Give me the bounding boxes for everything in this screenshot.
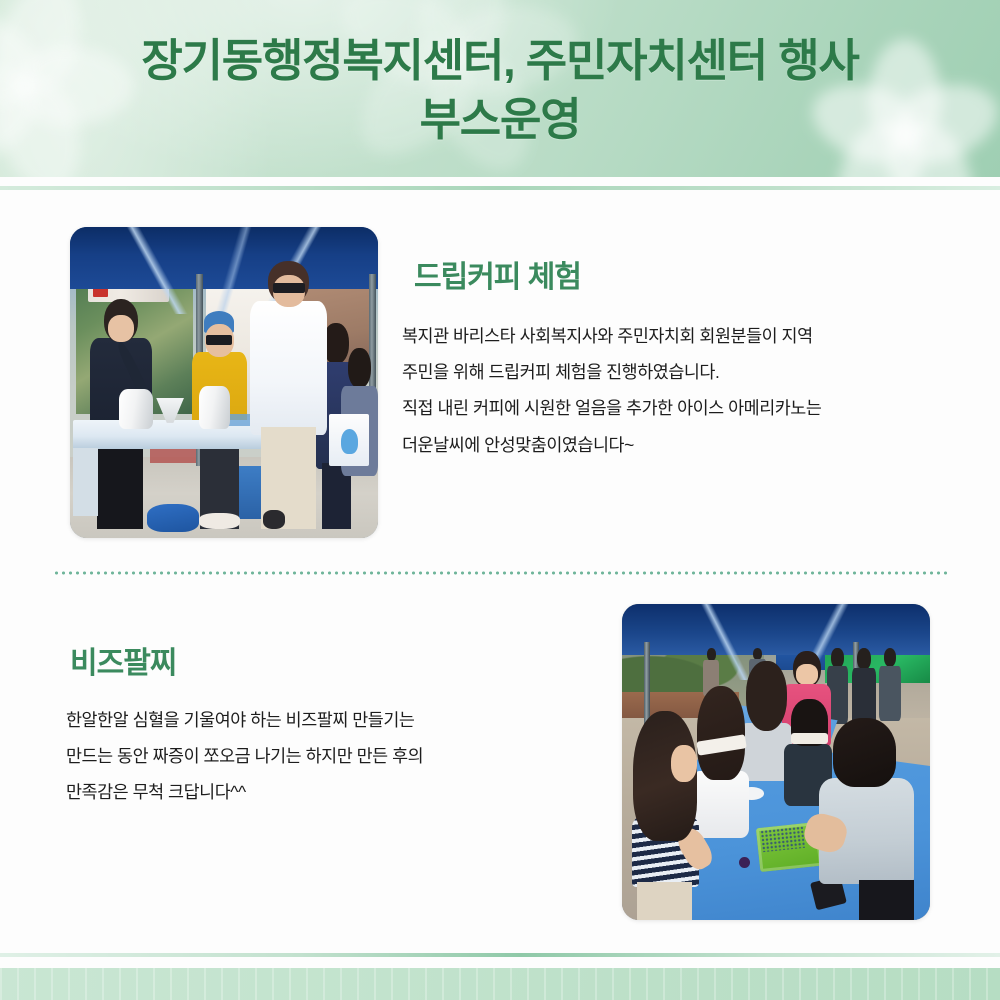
page-title-line-2: 부스운영 [0, 90, 1000, 149]
section-divider-dotted [53, 571, 949, 575]
page-title: 장기동행정복지센터, 주민자치센터 행사 부스운영 [0, 0, 1000, 150]
body-line: 주민을 위해 드립커피 체험을 진행하였습니다. [402, 354, 982, 390]
body-line: 직접 내린 커피에 시원한 얼음을 추가한 아이스 아메리카노는 [402, 390, 982, 426]
body-line: 더운날씨에 안성맞춤이였습니다~ [402, 427, 982, 463]
section-title-drip-coffee: 드립커피 체험 [414, 252, 581, 296]
section-title-beads-bracelet: 비즈팔찌 [70, 638, 176, 682]
poster-body: 드립커피 체험 복지관 바리스타 사회복지사와 주민자치회 회원분들이 지역 주… [0, 190, 1000, 950]
footer-band [0, 968, 1000, 1000]
photo-drip-coffee-booth [70, 227, 378, 538]
body-line: 만족감은 무척 크답니다^^ [66, 774, 586, 810]
poster-header: 장기동행정복지센터, 주민자치센터 행사 부스운영 [0, 0, 1000, 177]
page-title-line-1: 장기동행정복지센터, 주민자치센터 행사 [141, 35, 858, 86]
footer-divider-rule [0, 953, 1000, 957]
poster-page: 장기동행정복지센터, 주민자치센터 행사 부스운영 [0, 0, 1000, 1000]
photo-beads-bracelet-table [622, 604, 930, 920]
body-line: 만드는 동안 짜증이 쪼오금 나기는 하지만 만든 후의 [66, 738, 586, 774]
body-line: 복지관 바리스타 사회복지사와 주민자치회 회원분들이 지역 [402, 318, 982, 354]
body-line: 한알한알 심혈을 기울여야 하는 비즈팔찌 만들기는 [66, 702, 586, 738]
section-body-beads-bracelet: 한알한알 심혈을 기울여야 하는 비즈팔찌 만들기는 만드는 동안 짜증이 쪼오… [66, 702, 586, 811]
section-body-drip-coffee: 복지관 바리스타 사회복지사와 주민자치회 회원분들이 지역 주민을 위해 드립… [402, 318, 982, 463]
